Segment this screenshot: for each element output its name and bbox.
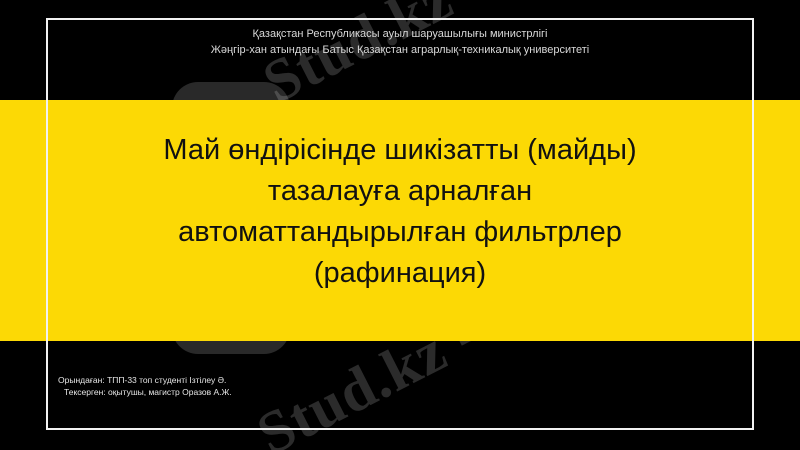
header-line-ministry: Қазақстан Республикасы ауыл шаруашылығы …: [50, 26, 750, 42]
title-line-2: тазалауға арналған: [60, 171, 740, 212]
slide-title: Май өндірісінде шикізатты (майды) тазала…: [60, 130, 740, 294]
footer-line-reviewer: Тексерген: оқытушы, магистр Оразов А.Ж.: [58, 386, 232, 398]
header-line-university: Жәңгір-хан атындағы Батыс Қазақстан агра…: [50, 42, 750, 58]
title-line-4: (рафинация): [60, 253, 740, 294]
title-line-1: Май өндірісінде шикізатты (майды): [60, 130, 740, 171]
title-line-3: автоматтандырылған фильтрлер: [60, 212, 740, 253]
footer-line-author: Орындаған: ТПП-33 топ студенті Ізтілеу Ә…: [58, 374, 232, 386]
slide-footer: Орындаған: ТПП-33 топ студенті Ізтілеу Ә…: [58, 374, 232, 398]
slide-header: Қазақстан Республикасы ауыл шаруашылығы …: [50, 26, 750, 58]
presentation-slide: Stud.kz - Stud.kz Stud.kz - Stud.kz Қаза…: [0, 0, 800, 450]
